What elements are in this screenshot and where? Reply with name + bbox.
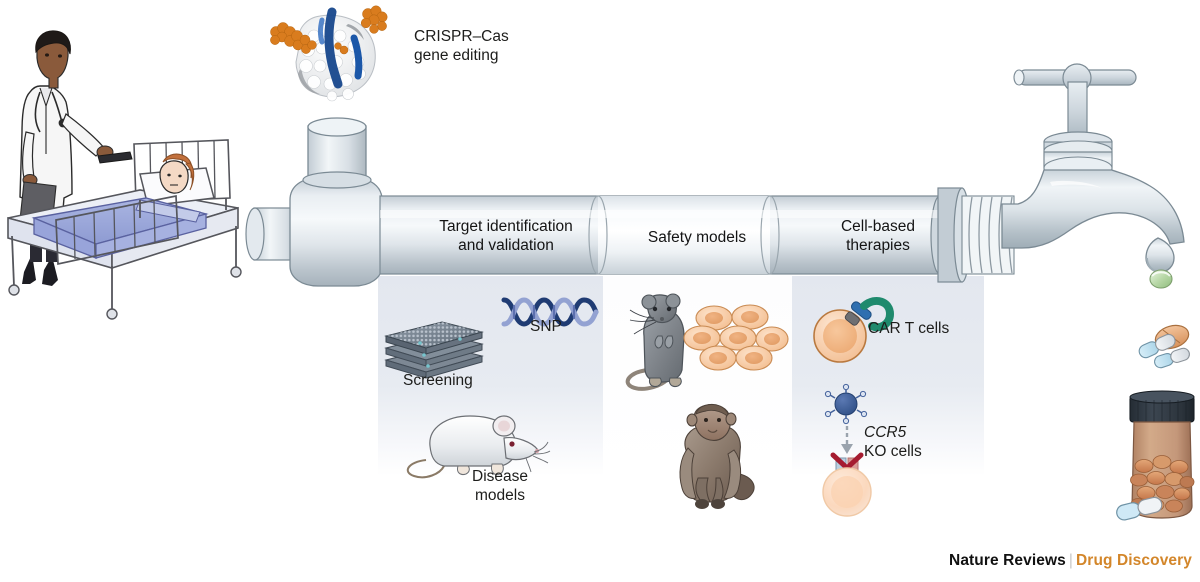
dripping-capsule-icon bbox=[1150, 270, 1172, 288]
car-t-cells-label: CAR T cells bbox=[868, 320, 949, 339]
water-tap-icon bbox=[998, 52, 1198, 302]
crispr-cas-protein-structure-icon bbox=[262, 2, 392, 110]
crispr-label: CRISPR–Cas gene editing bbox=[414, 28, 509, 65]
ccr5-gene-label: CCR5 bbox=[864, 424, 906, 443]
figure-canvas: CRISPR–Cas gene editing bbox=[0, 0, 1200, 582]
segment-label-safety-models: Safety models bbox=[608, 229, 786, 248]
journal-credit: Nature Reviews|Drug Discovery bbox=[949, 552, 1192, 570]
disease-models-label: Disease models bbox=[455, 468, 545, 505]
clinic-scene bbox=[0, 22, 250, 322]
macaque-monkey-icon bbox=[662, 404, 782, 524]
snp-label: SNP bbox=[530, 318, 562, 337]
pipeline-pipe bbox=[250, 100, 1040, 300]
blocked-entry-arrow-icon bbox=[841, 426, 853, 454]
loose-pills-icon bbox=[1132, 322, 1200, 372]
screening-label: Screening bbox=[403, 372, 473, 391]
segment-label-target-identification: Target identification and validation bbox=[412, 218, 600, 255]
credit-secondary: Drug Discovery bbox=[1076, 552, 1192, 569]
virus-particle-icon bbox=[825, 384, 866, 423]
pill-bottle-icon bbox=[1122, 388, 1200, 528]
credit-primary: Nature Reviews bbox=[949, 552, 1066, 569]
credit-separator: | bbox=[1066, 552, 1076, 569]
segment-label-cell-based-therapies: Cell-based therapies bbox=[798, 218, 958, 255]
ko-cells-label: KO cells bbox=[864, 443, 922, 462]
knockout-cell-icon bbox=[823, 468, 871, 516]
cell-cluster-icon bbox=[688, 302, 788, 374]
pipe-tee-junction bbox=[290, 118, 382, 286]
